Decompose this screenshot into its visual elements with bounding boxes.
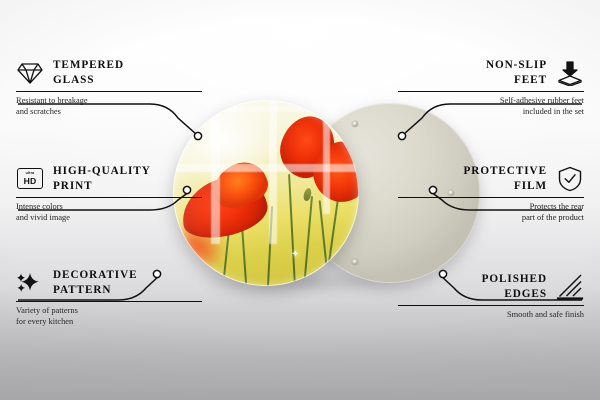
divider	[398, 91, 584, 92]
feature-title-line2: PRINT	[53, 180, 93, 192]
sparkles-icon	[16, 269, 44, 297]
sparkle-icon: ✦	[291, 250, 299, 260]
feature-title-line1: NON-SLIP	[486, 59, 547, 71]
feature-heading: PROTECTIVE FILM	[398, 164, 584, 194]
divider	[16, 301, 202, 302]
feature-desc-line2: for every kitchen	[16, 317, 73, 326]
feature-desc-line2: part of the product	[522, 213, 584, 222]
feature-tempered-glass: TEMPERED GLASS Resistant to breakage and…	[16, 58, 202, 118]
feature-description: Intense colors and vivid image	[16, 201, 202, 225]
divider	[398, 305, 584, 306]
feature-heading: NON-SLIP FEET	[398, 58, 584, 88]
infographic-canvas: ✦ ✦	[0, 0, 600, 400]
feature-polished-edges: POLISHED EDGES Smooth and safe finish	[398, 272, 584, 320]
feature-heading: POLISHED EDGES	[398, 272, 584, 302]
hd-badge-large-text: HD	[24, 177, 37, 186]
feature-title: NON-SLIP FEET	[486, 58, 547, 88]
feature-title-line2: GLASS	[53, 74, 94, 86]
arrow-down-pad-icon	[556, 59, 584, 87]
feature-decorative-pattern: DECORATIVE PATTERN Variety of patterns f…	[16, 268, 202, 328]
diamond-icon	[16, 59, 44, 87]
feature-protective-film: PROTECTIVE FILM Protects the rear part o…	[398, 164, 584, 224]
feature-title-line1: DECORATIVE	[53, 269, 138, 281]
flower-stem	[267, 206, 273, 286]
feature-description: Variety of patterns for every kitchen	[16, 305, 202, 329]
divider	[398, 197, 584, 198]
feature-title: TEMPERED GLASS	[53, 58, 124, 88]
feature-desc-line1: Smooth and safe finish	[507, 310, 584, 319]
feature-title-line1: POLISHED	[482, 273, 547, 285]
feature-desc-line2: included in the set	[523, 107, 584, 116]
feature-desc-line1: Variety of patterns	[16, 306, 78, 315]
feature-title-line2: FEET	[514, 74, 547, 86]
feature-title-line2: EDGES	[504, 288, 547, 300]
feature-description: Resistant to breakage and scratches	[16, 95, 202, 119]
feature-title-line1: PROTECTIVE	[464, 165, 547, 177]
feature-desc-line1: Intense colors	[16, 202, 63, 211]
flower-stem	[319, 200, 330, 284]
shield-check-icon	[556, 165, 584, 193]
feature-title-line1: TEMPERED	[53, 59, 124, 71]
feature-high-quality-print: ultra HD HIGH-QUALITY PRINT Intense colo…	[16, 164, 202, 224]
feature-title-line1: HIGH-QUALITY	[53, 165, 151, 177]
feature-title-line2: PATTERN	[53, 284, 111, 296]
sparkle-icon: ✦	[229, 102, 240, 115]
feature-description: Protects the rear part of the product	[398, 201, 584, 225]
feature-description: Smooth and safe finish	[398, 309, 584, 321]
feature-title: HIGH-QUALITY PRINT	[53, 164, 151, 194]
feature-desc-line2: and scratches	[16, 107, 61, 116]
feature-heading: TEMPERED GLASS	[16, 58, 202, 88]
feature-title: PROTECTIVE FILM	[464, 164, 547, 194]
feature-non-slip-feet: NON-SLIP FEET Self-adhesive rubber feet …	[398, 58, 584, 118]
feature-desc-line1: Resistant to breakage	[16, 96, 88, 105]
rubber-foot	[352, 121, 358, 127]
diagonal-lines-icon	[556, 273, 584, 301]
feature-title: DECORATIVE PATTERN	[53, 268, 138, 298]
feature-heading: ultra HD HIGH-QUALITY PRINT	[16, 164, 202, 194]
divider	[16, 91, 202, 92]
feature-title: POLISHED EDGES	[482, 272, 547, 302]
feature-desc-line2: and vivid image	[16, 213, 70, 222]
rubber-foot	[352, 259, 358, 265]
divider	[16, 197, 202, 198]
feature-title-line2: FILM	[514, 180, 547, 192]
feature-description: Self-adhesive rubber feet included in th…	[398, 95, 584, 119]
feature-desc-line1: Self-adhesive rubber feet	[500, 96, 584, 105]
ultra-hd-badge-icon: ultra HD	[16, 165, 44, 193]
feature-desc-line1: Protects the rear	[530, 202, 584, 211]
feature-heading: DECORATIVE PATTERN	[16, 268, 202, 298]
